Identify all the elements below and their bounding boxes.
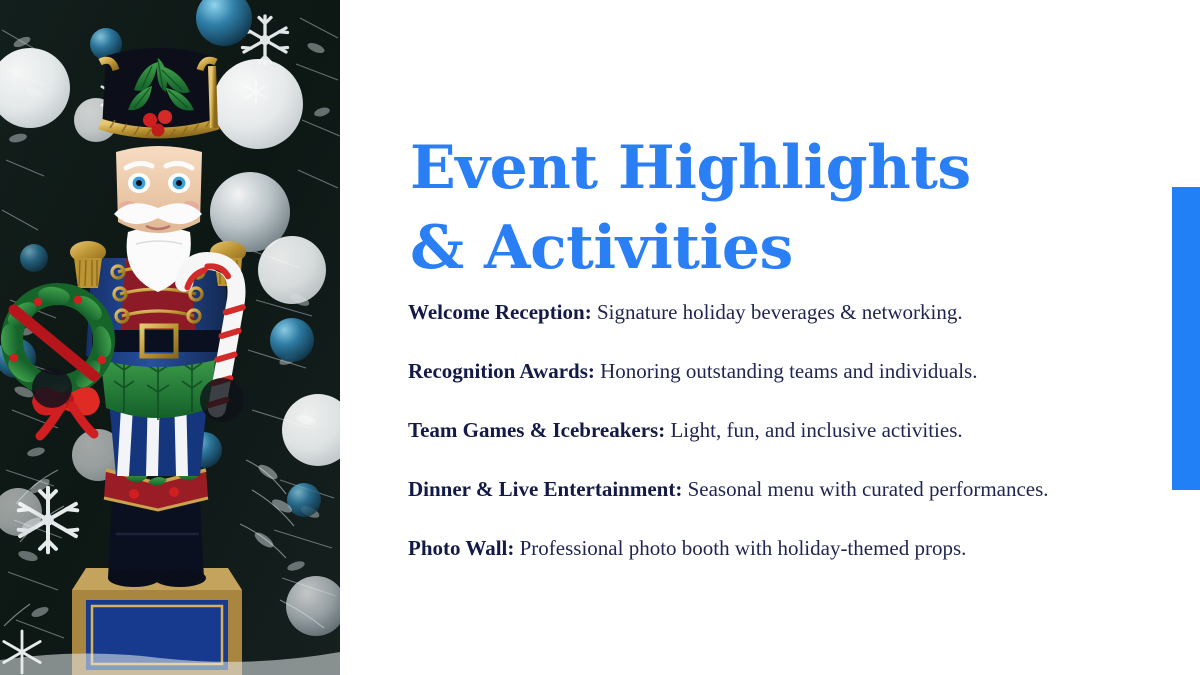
list-item: Photo Wall: Professional photo booth wit… (408, 534, 1068, 563)
list-item-description: Seasonal menu with curated performances. (682, 477, 1048, 501)
list-item-label: Dinner & Live Entertainment: (408, 477, 682, 501)
list-item: Recognition Awards: Honoring outstanding… (408, 357, 1068, 386)
list-item-description: Light, fun, and inclusive activities. (665, 418, 962, 442)
right-edge-accent-bar (1172, 187, 1200, 490)
list-item-label: Recognition Awards: (408, 359, 595, 383)
list-item-description: Professional photo booth with holiday-th… (514, 536, 966, 560)
nutcracker-photo-illustration (0, 0, 340, 675)
list-item-label: Photo Wall: (408, 536, 514, 560)
list-item-label: Welcome Reception: (408, 300, 592, 324)
list-item-description: Signature holiday beverages & networking… (592, 300, 963, 324)
slide-content: Event Highlights & Activities Welcome Re… (340, 0, 1200, 675)
list-item-description: Honoring outstanding teams and individua… (595, 359, 978, 383)
list-item: Dinner & Live Entertainment: Seasonal me… (408, 475, 1068, 504)
list-item: Welcome Reception: Signature holiday bev… (408, 298, 1068, 327)
list-item: Team Games & Icebreakers: Light, fun, an… (408, 416, 1068, 445)
list-item-label: Team Games & Icebreakers: (408, 418, 665, 442)
highlights-list: Welcome Reception: Signature holiday bev… (408, 277, 1068, 563)
presentation-slide: Event Highlights & Activities Welcome Re… (0, 0, 1200, 675)
page-title: Event Highlights & Activities (410, 128, 1110, 288)
nutcracker-photo (0, 0, 340, 675)
